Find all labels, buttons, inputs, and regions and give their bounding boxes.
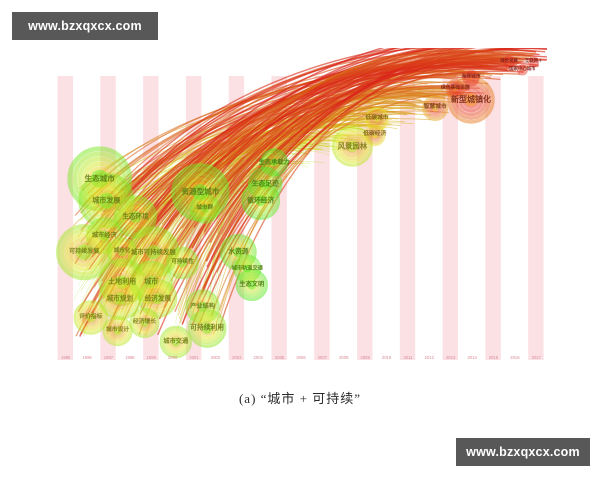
axis-tick-2012: 2012 xyxy=(425,355,434,360)
keyword-node xyxy=(237,270,267,300)
keyword-node xyxy=(104,317,132,345)
x-axis-ticks: 1995199619971998199920002001200220032004… xyxy=(55,355,547,371)
axis-tick-2017: 2017 xyxy=(532,355,541,360)
axis-tick-1996: 1996 xyxy=(82,355,91,360)
watermark-top: www.bzxqxcx.com xyxy=(12,12,158,40)
axis-tick-1998: 1998 xyxy=(125,355,134,360)
keyword-node xyxy=(365,125,385,145)
axis-tick-2011: 2011 xyxy=(403,355,412,360)
keyword-node xyxy=(529,57,539,67)
keyword-node xyxy=(189,310,225,346)
keyword-node xyxy=(517,65,527,75)
axis-tick-1995: 1995 xyxy=(61,355,70,360)
keyword-node xyxy=(191,195,219,223)
axis-tick-2003: 2003 xyxy=(232,355,241,360)
axis-tick-2010: 2010 xyxy=(382,355,391,360)
keyword-nodes xyxy=(58,56,538,357)
keyword-node xyxy=(463,70,479,86)
keyword-node xyxy=(446,80,464,98)
axis-tick-2014: 2014 xyxy=(467,355,476,360)
figure-canvas: www.bzxqxcx.com 生态城市城市发展生态环境城市经济可持续发展城市可… xyxy=(0,0,600,480)
watermark-bottom: www.bzxqxcx.com xyxy=(456,438,590,466)
keyword-node xyxy=(75,302,107,334)
keyword-node xyxy=(168,248,198,278)
axis-tick-2009: 2009 xyxy=(360,355,369,360)
keyword-network-plot: 生态城市城市发展生态环境城市经济可持续发展城市可持续发展城市化资源型城市城市群水… xyxy=(55,48,547,360)
axis-tick-1997: 1997 xyxy=(104,355,113,360)
network-svg xyxy=(55,48,547,360)
axis-tick-2000: 2000 xyxy=(168,355,177,360)
keyword-node xyxy=(503,56,515,68)
axis-tick-2004: 2004 xyxy=(254,355,263,360)
axis-tick-2013: 2013 xyxy=(446,355,455,360)
keyword-node xyxy=(243,183,279,219)
keyword-node xyxy=(131,309,159,337)
axis-tick-2005: 2005 xyxy=(275,355,284,360)
axis-tick-1999: 1999 xyxy=(147,355,156,360)
keyword-node xyxy=(161,327,191,357)
axis-tick-2008: 2008 xyxy=(339,355,348,360)
axis-tick-2002: 2002 xyxy=(211,355,220,360)
keyword-node xyxy=(423,96,447,120)
axis-tick-2016: 2016 xyxy=(510,355,519,360)
axis-tick-2015: 2015 xyxy=(489,355,498,360)
figure-caption: (a) “城市 + 可持续” xyxy=(0,388,600,407)
axis-tick-2001: 2001 xyxy=(189,355,198,360)
axis-tick-2006: 2006 xyxy=(296,355,305,360)
axis-tick-2007: 2007 xyxy=(318,355,327,360)
